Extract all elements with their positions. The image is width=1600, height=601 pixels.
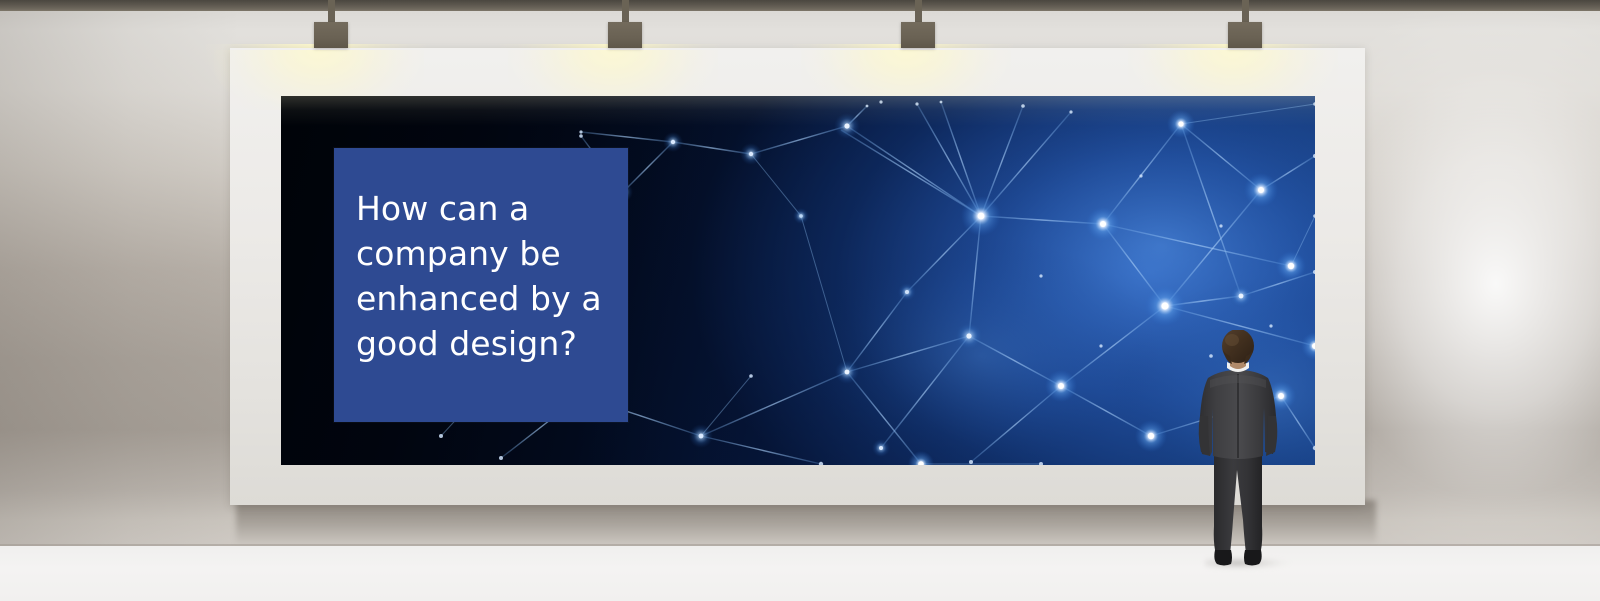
wall-left-shading: [0, 0, 240, 546]
gallery-scene: How can a company be enhanced by a good …: [0, 0, 1600, 601]
spotlight-lamp-icon: [608, 22, 642, 48]
wall-right-highlight: [1340, 0, 1600, 546]
caption-text: How can a company be enhanced by a good …: [356, 186, 618, 366]
spotlight-fixture-3[interactable]: [901, 0, 935, 50]
businessman-figure: [1180, 330, 1300, 570]
spotlight-lamp-icon: [901, 22, 935, 48]
caption-box[interactable]: How can a company be enhanced by a good …: [334, 148, 628, 422]
spotlight-fixture-4[interactable]: [1228, 0, 1262, 50]
spotlight-fixture-1[interactable]: [314, 0, 348, 50]
spotlight-fixture-2[interactable]: [608, 0, 642, 50]
ceiling-rail: [0, 0, 1600, 11]
spotlight-lamp-icon: [1228, 22, 1262, 48]
gallery-floor: [0, 546, 1600, 601]
spotlight-lamp-icon: [314, 22, 348, 48]
artwork-top-light-spill: [281, 96, 1315, 126]
